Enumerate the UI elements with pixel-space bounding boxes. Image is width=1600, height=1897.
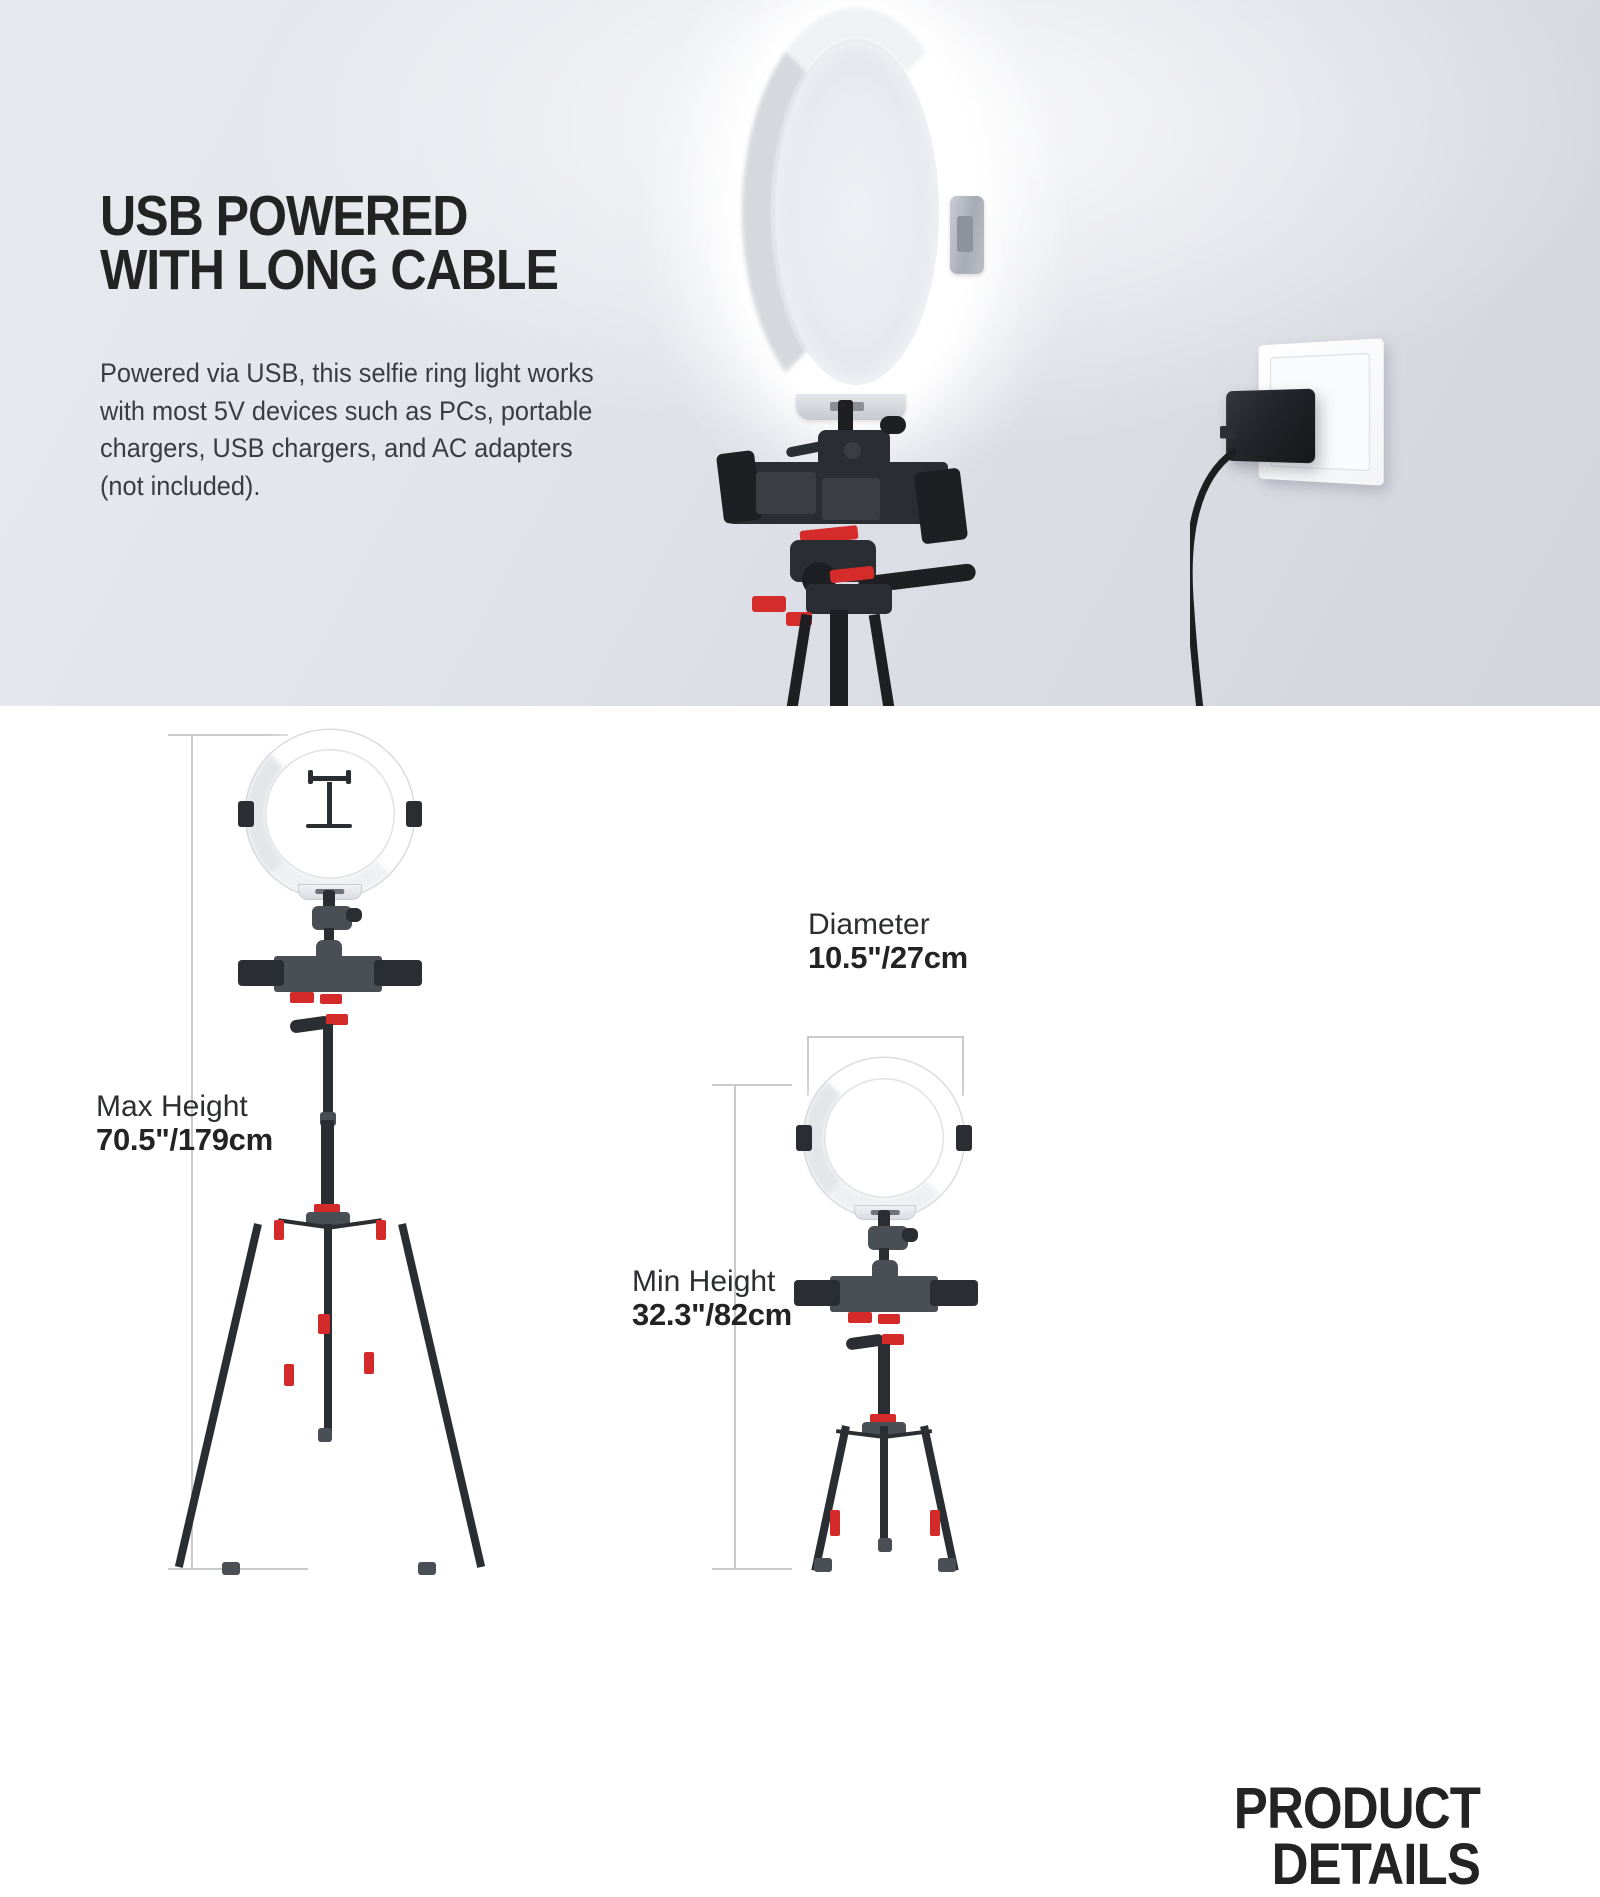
- leg-lock-right: [364, 1352, 374, 1374]
- mini-clamp-right-jaw: [346, 770, 351, 784]
- ring-mount-right: [406, 801, 422, 827]
- min-height-bottom-tick: [712, 1568, 792, 1570]
- usb-cable-icon: [1190, 330, 1450, 706]
- leg-lock-left: [284, 1364, 294, 1386]
- ring-light-shading: [742, 8, 970, 416]
- leg-lock-right: [930, 1510, 940, 1536]
- tripod-min-height-illustration: [790, 1058, 980, 1574]
- tilt-lock-lever: [290, 992, 314, 1003]
- tripod-leg-left: [175, 1223, 262, 1568]
- foot-left: [222, 1562, 240, 1575]
- mini-clamp-left-jaw: [308, 770, 313, 784]
- foot-right: [938, 1558, 956, 1572]
- product-details-panel: Max Height 70.5"/179cm: [0, 706, 1600, 1600]
- ring-mount-right: [956, 1125, 972, 1151]
- center-column-upper: [323, 1024, 333, 1120]
- min-height-caption: Min Height: [632, 1266, 792, 1298]
- tighten-knob: [902, 1228, 918, 1242]
- min-height-label: Min Height 32.3"/82cm: [632, 1266, 792, 1332]
- tilt-lock-lever: [848, 1312, 872, 1323]
- phone-holder-right-jaw: [914, 467, 968, 544]
- ring-light-inner-opening: [824, 1078, 944, 1198]
- holder-slot-left: [286, 964, 322, 988]
- wall-power-group: [1190, 330, 1450, 706]
- foot-right: [418, 1562, 436, 1575]
- ring-light-icon: [804, 1058, 964, 1218]
- brace-lock-left: [274, 1220, 284, 1240]
- leg-lock-left: [830, 1510, 840, 1536]
- leg-lock-center: [318, 1314, 330, 1334]
- phone-holder-right-jaw: [930, 1280, 978, 1306]
- mini-clamp-base: [306, 824, 352, 828]
- tripod-leg-right: [920, 1425, 959, 1571]
- holder-slot-right: [890, 1284, 926, 1308]
- headline: USB POWERED WITH LONG CABLE: [100, 190, 663, 297]
- phone-holder-left-jaw: [794, 1280, 840, 1306]
- tripod-leg-right: [398, 1223, 485, 1568]
- holder-slot-right: [334, 964, 370, 988]
- foot-center: [318, 1428, 332, 1442]
- tripod-leg-left: [787, 614, 813, 706]
- page-title: PRODUCT DETAILS: [1181, 1781, 1480, 1892]
- mini-phone-clamp: [310, 776, 350, 781]
- holder-slot-right: [822, 478, 880, 520]
- center-column-lower: [321, 1120, 334, 1212]
- body-copy: Powered via USB, this selfie ring light …: [100, 355, 597, 506]
- min-height-value: 32.3"/82cm: [632, 1298, 792, 1332]
- center-column: [878, 1344, 890, 1422]
- tripod-max-height-illustration: [232, 724, 462, 1574]
- brace-lock-right: [376, 1220, 386, 1240]
- phone-holder-right-jaw: [374, 960, 422, 986]
- phone-holder-left-jaw: [238, 960, 284, 986]
- ring-mount-left: [796, 1125, 812, 1151]
- ring-light-side-mount: [950, 196, 984, 274]
- diameter-value: 10.5"/27cm: [808, 941, 968, 975]
- foot-left: [814, 1558, 832, 1572]
- ring-stem: [838, 400, 853, 434]
- column-collar: [806, 584, 892, 614]
- holder-slot-left: [756, 472, 816, 514]
- min-height-top-tick: [712, 1084, 792, 1086]
- tighten-knob: [346, 908, 362, 922]
- tripod-leg-right: [869, 614, 895, 706]
- center-column: [830, 610, 848, 706]
- leg-lock-left: [752, 596, 786, 612]
- tighten-knob: [880, 416, 906, 434]
- tripod-leg-left: [811, 1425, 850, 1571]
- tripod-leg-center: [880, 1426, 888, 1546]
- tripod-icon: [690, 400, 1020, 706]
- diameter-caption: Diameter: [808, 909, 968, 941]
- pan-lock-lever: [320, 994, 342, 1004]
- foot-center: [878, 1538, 892, 1552]
- diameter-dimension-line: [807, 1036, 964, 1038]
- head-pivot-screw: [844, 442, 861, 459]
- diameter-label: Diameter 10.5"/27cm: [808, 909, 968, 975]
- pan-lock-lever: [878, 1314, 900, 1324]
- usb-powered-feature-panel: USB POWERED WITH LONG CABLE Powered via …: [0, 0, 1600, 706]
- ring-light-icon: [742, 8, 970, 416]
- holder-slot-left: [842, 1284, 878, 1308]
- mini-clamp-stem: [327, 782, 332, 826]
- ring-mount-left: [238, 801, 254, 827]
